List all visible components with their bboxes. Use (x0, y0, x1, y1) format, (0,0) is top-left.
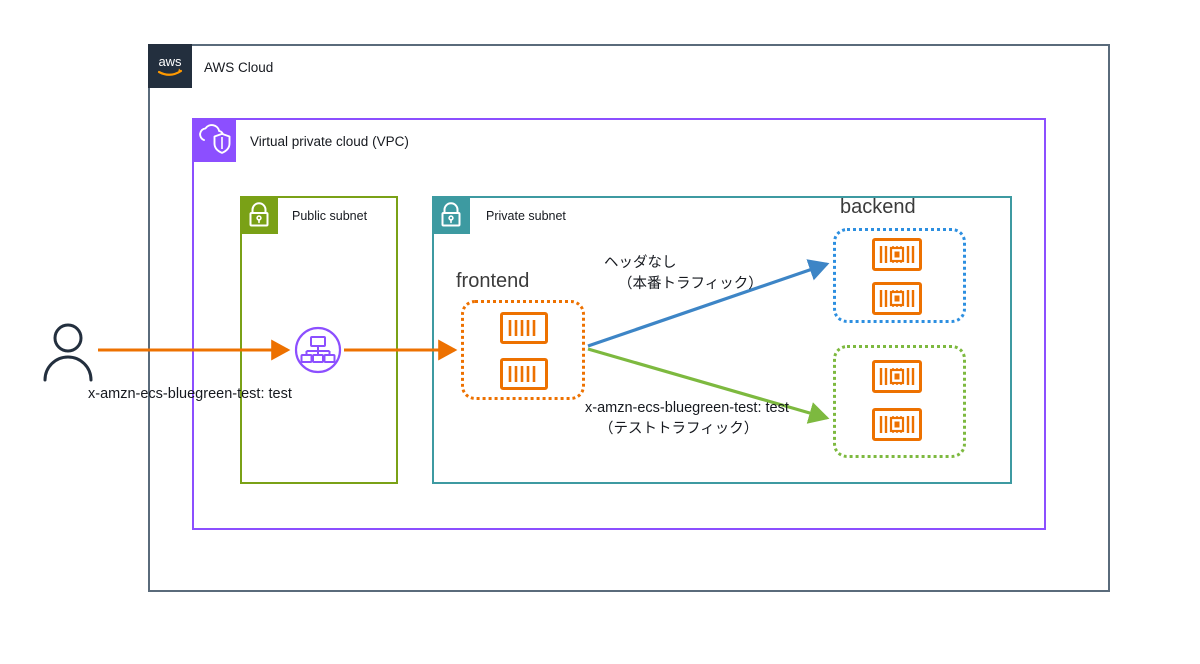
diagram-canvas: aws AWS Cloud Virtual private cloud (VPC… (0, 0, 1200, 664)
annotation-production-line2: （本番トラフィック） (604, 274, 763, 295)
frontend-task-icon-1 (500, 312, 548, 349)
elastic-load-balancer-icon (294, 326, 342, 374)
vpc-label: Virtual private cloud (VPC) (250, 134, 409, 149)
private-subnet-label: Private subnet (486, 209, 566, 223)
vpc-cloud-shield-icon (192, 118, 236, 162)
private-subnet-lock-icon (432, 196, 470, 234)
public-subnet-label: Public subnet (292, 209, 367, 223)
frontend-task-icon-2 (500, 358, 548, 395)
backend-test-task-icon-2 (872, 408, 922, 446)
frontend-title: frontend (456, 270, 529, 293)
backend-test-task-icon-1 (872, 360, 922, 398)
annotation-production-line1: ヘッダなし (604, 255, 677, 271)
aws-cloud-label: AWS Cloud (204, 60, 273, 75)
svg-text:aws: aws (158, 54, 182, 69)
public-subnet-lock-icon (240, 196, 278, 234)
aws-logo-icon: aws (148, 44, 192, 88)
annotation-test-line1: x-amzn-ecs-bluegreen-test: test (585, 400, 789, 416)
backend-production-task-icon-1 (872, 238, 922, 276)
annotation-production-traffic: ヘッダなし （本番トラフィック） (604, 253, 763, 295)
backend-title: backend (840, 196, 916, 219)
user-icon (40, 320, 96, 384)
backend-production-task-icon-2 (872, 282, 922, 320)
annotation-test-traffic: x-amzn-ecs-bluegreen-test: test （テストトラフィ… (585, 398, 789, 440)
annotation-test-line2: （テストトラフィック） (585, 419, 789, 440)
annotation-user-request: x-amzn-ecs-bluegreen-test: test (88, 384, 292, 405)
